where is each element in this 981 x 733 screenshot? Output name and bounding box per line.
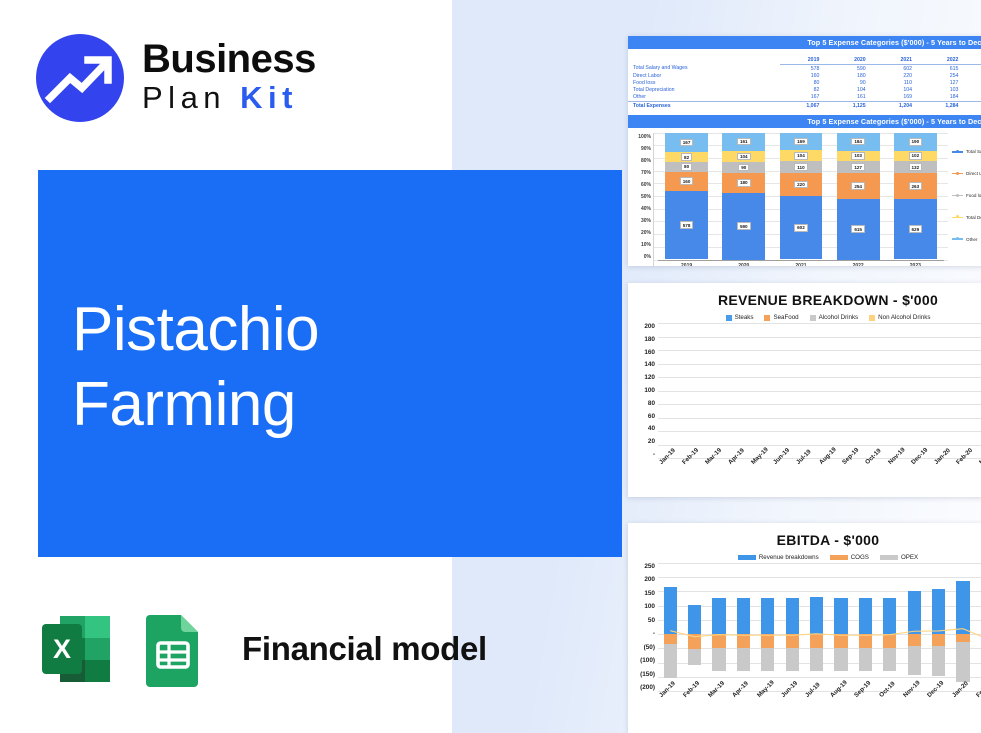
expense-cell: 615 [919, 65, 965, 73]
expense-bar-value-label: 90 [738, 164, 749, 172]
expense-bar-segment: 82 [665, 152, 708, 162]
ebitda-bar-positive [688, 605, 701, 634]
expense-bar-segment: 104 [722, 151, 765, 163]
expense-total-cell: 1,316 [965, 101, 981, 109]
legend-label: Total Depreciation [966, 215, 981, 220]
legend-label: Direct Labor [966, 171, 981, 176]
microsoft-excel-icon: X [38, 611, 114, 687]
expense-cell: 254 [919, 72, 965, 79]
ebitda-bar-positive [664, 587, 677, 634]
legend-label: Revenue breakdowns [759, 554, 819, 561]
expense-cell: 82 [780, 87, 826, 94]
axis-tick: 80% [641, 158, 651, 164]
ebitda-bar-column [829, 563, 853, 691]
legend-item: Total Depreciation [952, 215, 981, 220]
expense-bar-segment: 104 [780, 150, 823, 161]
ebitda-chart-y-axis: 25020015010050-(50)(100)(150)(200) [631, 563, 658, 691]
legend-swatch [952, 238, 963, 239]
expense-table-header: Top 5 Expense Categories ($'000) - 5 Yea… [628, 36, 981, 49]
ebitda-bar-column [658, 563, 682, 691]
expense-cell: 180 [826, 72, 872, 79]
ebitda-segment-cogs [834, 634, 847, 648]
ebitda-segment-cogs [664, 634, 677, 644]
expense-bar-segment: 180 [722, 173, 765, 193]
expense-col-label [628, 54, 780, 65]
expense-bar-segment: 190 [894, 133, 937, 151]
ebitda-bar-positive [834, 598, 847, 634]
ebitda-segment-opex [786, 648, 799, 671]
legend-swatch [952, 195, 963, 196]
legend-item: Total Salary and Wages [952, 149, 981, 154]
expense-bar-segment: 184 [837, 133, 880, 151]
revenue-chart-legend: SteaksSeaFoodAlcohol DrinksNon Alcohol D… [628, 308, 981, 323]
axis-tick: 250 [644, 563, 655, 570]
legend-item: Food loss [952, 193, 981, 198]
ebitda-chart-title: EBITDA - $'000 [628, 523, 981, 548]
table-row: Other167161169184190 [628, 94, 981, 102]
ebitda-bar-negative [737, 634, 750, 671]
ebitda-segment-opex [712, 648, 725, 670]
ebitda-bar-column [780, 563, 804, 691]
expense-bar-value-label: 578 [680, 221, 694, 229]
legend-item: COGS [830, 554, 869, 561]
axis-tick: 140 [644, 361, 655, 368]
ebitda-segment-cogs [908, 634, 921, 646]
legend-item: Direct Labor [952, 171, 981, 176]
expense-total-cell: 1,067 [780, 101, 826, 109]
axis-tick: (150) [640, 671, 655, 678]
brand-plan-text: Plan [142, 80, 226, 115]
ebitda-segment-opex [761, 648, 774, 671]
expense-cell: 90 [826, 79, 872, 86]
expense-bar-value-label: 629 [909, 225, 923, 233]
expense-bar-segment: 167 [665, 133, 708, 153]
table-row: Total Salary and Wages578590602615629 [628, 65, 981, 73]
preview-expense-categories[interactable]: Top 5 Expense Categories ($'000) - 5 Yea… [628, 36, 981, 266]
ebitda-segment-opex [883, 648, 896, 670]
legend-swatch [726, 315, 732, 321]
ebitda-bar-column [902, 563, 926, 691]
expense-bar-column: 190102132263629 [894, 133, 937, 260]
expense-bar-value-label: 615 [851, 225, 865, 233]
axis-tick: 50 [648, 617, 655, 624]
expense-bar-value-label: 602 [794, 224, 808, 232]
axis-tick: (100) [640, 657, 655, 664]
ebitda-bar-negative [810, 634, 823, 670]
ebitda-segment-cogs [737, 634, 750, 648]
preview-ebitda[interactable]: EBITDA - $'000 Revenue breakdownsCOGSOPE… [628, 523, 981, 733]
expense-cell: 80 [780, 79, 826, 86]
brand-logo: Business Plan Kit [36, 34, 316, 122]
axis-tick: 160 [644, 349, 655, 356]
brand-name-line1: Business [142, 39, 316, 79]
google-sheets-icon [136, 611, 212, 687]
expense-bar-segment: 254 [837, 173, 880, 198]
ebitda-bar-column [731, 563, 755, 691]
expense-bar-segment: 169 [780, 133, 823, 151]
expense-cell: 167 [780, 94, 826, 102]
ebitda-segment-cogs [932, 634, 945, 646]
ebitda-segment-cogs [956, 634, 969, 642]
expense-bar-segment: 590 [722, 193, 765, 260]
footer-label: Financial model [242, 630, 487, 668]
expense-bar-value-label: 82 [681, 153, 692, 161]
ebitda-bar-negative [932, 634, 945, 676]
ebitda-bar-column [951, 563, 975, 691]
ebitda-segment-cogs [859, 634, 872, 648]
ebitda-bar-column [682, 563, 706, 691]
axis-tick: 60 [648, 413, 655, 420]
axis-tick: 30% [641, 218, 651, 224]
ebitda-bar-column [707, 563, 731, 691]
ebitda-segment-opex [859, 648, 872, 671]
expense-cell: 110 [873, 79, 919, 86]
axis-tick: 2022 [837, 263, 880, 266]
expense-row-label: Food loss [628, 79, 780, 86]
ebitda-segment-opex [688, 649, 701, 666]
expense-bar-segment: 132 [894, 161, 937, 174]
ebitda-segment-opex [908, 646, 921, 674]
ebitda-segment-opex [834, 648, 847, 671]
legend-label: Alcohol Drinks [819, 314, 859, 321]
ebitda-segment-cogs [883, 634, 896, 648]
ebitda-bar-negative [712, 634, 725, 670]
expense-bar-segment: 220 [780, 173, 823, 196]
ebitda-bar-positive [737, 598, 750, 634]
expense-cell: 629 [965, 65, 981, 73]
expense-cell: 103 [919, 87, 965, 94]
expense-cell: 104 [826, 87, 872, 94]
expense-bar-value-label: 160 [680, 177, 694, 185]
legend-swatch [830, 555, 848, 560]
ebitda-bar-positive [908, 591, 921, 634]
expense-bar-value-label: 104 [737, 153, 751, 161]
expense-bar-segment: 602 [780, 196, 823, 259]
ebitda-bar-negative [688, 634, 701, 665]
expense-col-year: 2023 [965, 54, 981, 65]
expense-cell: 104 [873, 87, 919, 94]
legend-swatch [952, 151, 963, 152]
ebitda-bar-column [756, 563, 780, 691]
legend-item: SeaFood [764, 314, 798, 321]
expense-bar-value-label: 102 [909, 152, 923, 160]
expense-bar-segment: 161 [722, 133, 765, 151]
expense-bar-value-label: 190 [909, 138, 923, 146]
legend-label: COGS [851, 554, 869, 561]
expense-stacked-chart: 100%90%80%70%60%50%40%30%20%10%0% 167828… [628, 128, 981, 266]
expense-bar-segment: 629 [894, 199, 937, 260]
ebitda-bar-column [975, 563, 981, 691]
expense-chart-x-axis: 20192020202120222023 [658, 260, 944, 266]
legend-label: Non Alcohol Drinks [878, 314, 930, 321]
expense-bar-column: 1678280160578 [665, 133, 708, 260]
axis-tick: 20 [648, 438, 655, 445]
ebitda-bar-positive [712, 598, 725, 634]
svg-text:X: X [53, 634, 71, 664]
legend-item: Non Alcohol Drinks [869, 314, 930, 321]
expense-cell: 161 [826, 94, 872, 102]
legend-item: Revenue breakdowns [738, 554, 819, 561]
ebitda-segment-opex [932, 646, 945, 676]
expense-chart-legend: Total Salary and WagesDirect LaborFood l… [948, 133, 981, 266]
ebitda-segment-opex [737, 648, 750, 671]
axis-tick: 40% [641, 206, 651, 212]
expense-cell: 132 [965, 79, 981, 86]
legend-item: Other [952, 237, 981, 242]
ebitda-bar-positive [932, 589, 945, 634]
ebitda-bar-positive [859, 598, 872, 634]
expense-bar-segment: 127 [837, 161, 880, 174]
ebitda-bar-negative [956, 634, 969, 682]
expense-bar-segment: 102 [894, 151, 937, 161]
expense-bar-value-label: 590 [737, 222, 751, 230]
expense-bar-value-label: 167 [680, 139, 694, 147]
axis-tick: 100 [644, 603, 655, 610]
expense-chart-header: Top 5 Expense Categories ($'000) - 5 Yea… [628, 115, 981, 128]
expense-bar-value-label: 263 [909, 182, 923, 190]
expense-total-cell: 1,284 [919, 101, 965, 109]
expense-bar-value-label: 103 [851, 152, 865, 160]
expense-bar-segment: 160 [665, 172, 708, 191]
expense-col-year: 2020 [826, 54, 872, 65]
expense-bar-column: 16110490180590 [722, 133, 765, 260]
legend-swatch [764, 315, 770, 321]
axis-tick: - [653, 451, 655, 458]
legend-label: Food loss [966, 193, 981, 198]
ebitda-chart-x-axis: Jan-19Feb-19Mar-19Apr-19May-19Jun-19Jul-… [628, 691, 981, 725]
axis-tick: 40 [648, 425, 655, 432]
expense-bar-segment: 90 [722, 162, 765, 172]
axis-tick: 200 [644, 576, 655, 583]
ebitda-bar-column [926, 563, 950, 691]
expense-bar-value-label: 132 [909, 163, 923, 171]
expense-row-label: Total Salary and Wages [628, 65, 780, 73]
expense-total-cell: 1,204 [873, 101, 919, 109]
expense-table: 20192020202120222023 Total Salary and Wa… [628, 54, 981, 110]
expense-bar-column: 169104110220602 [780, 133, 823, 260]
legend-swatch [738, 555, 756, 560]
expense-cell: 602 [873, 65, 919, 73]
ebitda-bar-positive [956, 581, 969, 634]
axis-tick: (200) [640, 684, 655, 691]
revenue-chart-x-axis: Jan-19Feb-19Mar-19Apr-19May-19Jun-19Jul-… [628, 458, 981, 492]
axis-tick: 70% [641, 170, 651, 176]
ebitda-segment-cogs [712, 634, 725, 648]
expense-bar-value-label: 184 [851, 138, 865, 146]
expense-bar-value-label: 80 [681, 163, 692, 171]
expense-bar-value-label: 110 [794, 163, 807, 171]
axis-tick: 60% [641, 182, 651, 188]
expense-col-year: 2021 [873, 54, 919, 65]
expense-cell: 590 [826, 65, 872, 73]
axis-tick: 80 [648, 400, 655, 407]
legend-label: SeaFood [773, 314, 798, 321]
ebitda-segment-opex [664, 644, 677, 678]
expense-bar-value-label: 161 [737, 138, 751, 146]
axis-tick: 200 [644, 323, 655, 330]
expense-cell: 102 [965, 87, 981, 94]
expense-bar-value-label: 104 [794, 152, 808, 160]
legend-swatch [952, 217, 963, 218]
preview-revenue-breakdown[interactable]: REVENUE BREAKDOWN - $'000 SteaksSeaFoodA… [628, 283, 981, 497]
expense-bar-segment: 615 [837, 199, 880, 260]
axis-tick: 2021 [780, 263, 823, 266]
axis-tick: 2020 [722, 263, 765, 266]
expense-cell: 160 [780, 72, 826, 79]
axis-tick: 0% [644, 254, 651, 260]
expense-total-cell: 1,125 [826, 101, 872, 109]
axis-tick: 50% [641, 194, 651, 200]
legend-swatch [880, 555, 898, 560]
ebitda-bar-negative [761, 634, 774, 671]
axis-tick: 2019 [665, 263, 708, 266]
axis-tick: 100 [644, 387, 655, 394]
ebitda-bar-column [878, 563, 902, 691]
legend-swatch [810, 315, 816, 321]
legend-label: Steaks [735, 314, 754, 321]
axis-tick: 90% [641, 146, 651, 152]
table-row: Total Depreciation82104104103102 [628, 87, 981, 94]
table-row-total: Total Expenses1,0671,1251,2041,2841,316 [628, 101, 981, 109]
ebitda-bar-negative [859, 634, 872, 671]
growth-arrow-circle-icon [36, 34, 124, 122]
expense-bar-column: 184103127254615 [837, 133, 880, 260]
ebitda-segment-cogs [761, 634, 774, 648]
legend-item: OPEX [880, 554, 918, 561]
legend-swatch [952, 173, 963, 174]
ebitda-bar-negative [664, 634, 677, 678]
ebitda-bar-positive [810, 597, 823, 634]
ebitda-bar-positive [883, 598, 896, 634]
legend-label: Other [966, 237, 978, 242]
expense-bar-segment: 103 [837, 151, 880, 161]
revenue-chart-y-axis: 20018016014012010080604020- [631, 323, 658, 458]
ebitda-bar-positive [761, 598, 774, 634]
expense-bar-value-label: 169 [794, 138, 808, 146]
revenue-chart-title: REVENUE BREAKDOWN - $'000 [628, 283, 981, 308]
table-row: Direct Labor160180220254263 [628, 72, 981, 79]
legend-label: OPEX [901, 554, 918, 561]
table-row: Food loss8090110127132 [628, 79, 981, 86]
expense-bar-segment: 80 [665, 162, 708, 172]
format-badges: X Financial model [38, 611, 487, 687]
legend-item: Alcohol Drinks [810, 314, 859, 321]
page-title: Pistachio Farming [72, 292, 319, 442]
ebitda-bar-column [804, 563, 828, 691]
ebitda-segment-cogs [786, 634, 799, 648]
ebitda-bar-negative [883, 634, 896, 670]
expense-bar-value-label: 127 [851, 163, 865, 171]
expense-cell: 190 [965, 94, 981, 102]
ebitda-segment-opex [810, 648, 823, 670]
legend-item: Steaks [726, 314, 754, 321]
expense-cell: 127 [919, 79, 965, 86]
expense-cell: 578 [780, 65, 826, 73]
ebitda-bar-column [853, 563, 877, 691]
axis-tick: - [653, 630, 655, 637]
expense-bar-segment: 110 [780, 161, 823, 173]
expense-col-year: 2022 [919, 54, 965, 65]
brand-name-line2: Plan Kit [142, 82, 316, 113]
ebitda-bar-negative [786, 634, 799, 671]
expense-chart-y-axis: 100%90%80%70%60%50%40%30%20%10%0% [631, 133, 653, 266]
ebitda-bar-negative [834, 634, 847, 671]
legend-label: Total Salary and Wages [966, 149, 981, 154]
ebitda-bar-negative [908, 634, 921, 674]
axis-tick: 10% [641, 242, 651, 248]
axis-tick: 150 [644, 590, 655, 597]
ebitda-bar-positive [786, 598, 799, 634]
expense-cell: 169 [873, 94, 919, 102]
expense-cell: 184 [919, 94, 965, 102]
brand-kit-text: Kit [240, 80, 298, 115]
ebitda-segment-cogs [688, 634, 701, 649]
expense-bar-value-label: 220 [794, 181, 808, 189]
expense-row-label: Total Depreciation [628, 87, 780, 94]
expense-bar-segment: 578 [665, 191, 708, 260]
axis-tick: 180 [644, 336, 655, 343]
expense-bar-segment: 263 [894, 173, 937, 198]
axis-tick: 100% [638, 134, 651, 140]
ebitda-chart-legend: Revenue breakdownsCOGSOPEX [628, 548, 981, 563]
expense-row-label: Direct Labor [628, 72, 780, 79]
expense-cell: 220 [873, 72, 919, 79]
expense-total-label: Total Expenses [628, 101, 780, 109]
expense-col-year: 2019 [780, 54, 826, 65]
expense-bar-value-label: 254 [851, 182, 865, 190]
axis-tick: 20% [641, 230, 651, 236]
axis-tick: (50) [644, 644, 655, 651]
expense-bar-value-label: 180 [737, 179, 751, 187]
axis-tick: 2023 [894, 263, 937, 266]
axis-tick: 120 [644, 374, 655, 381]
expense-row-label: Other [628, 94, 780, 102]
expense-cell: 263 [965, 72, 981, 79]
ebitda-segment-cogs [810, 634, 823, 648]
legend-swatch [869, 315, 875, 321]
ebitda-plot [658, 563, 981, 691]
